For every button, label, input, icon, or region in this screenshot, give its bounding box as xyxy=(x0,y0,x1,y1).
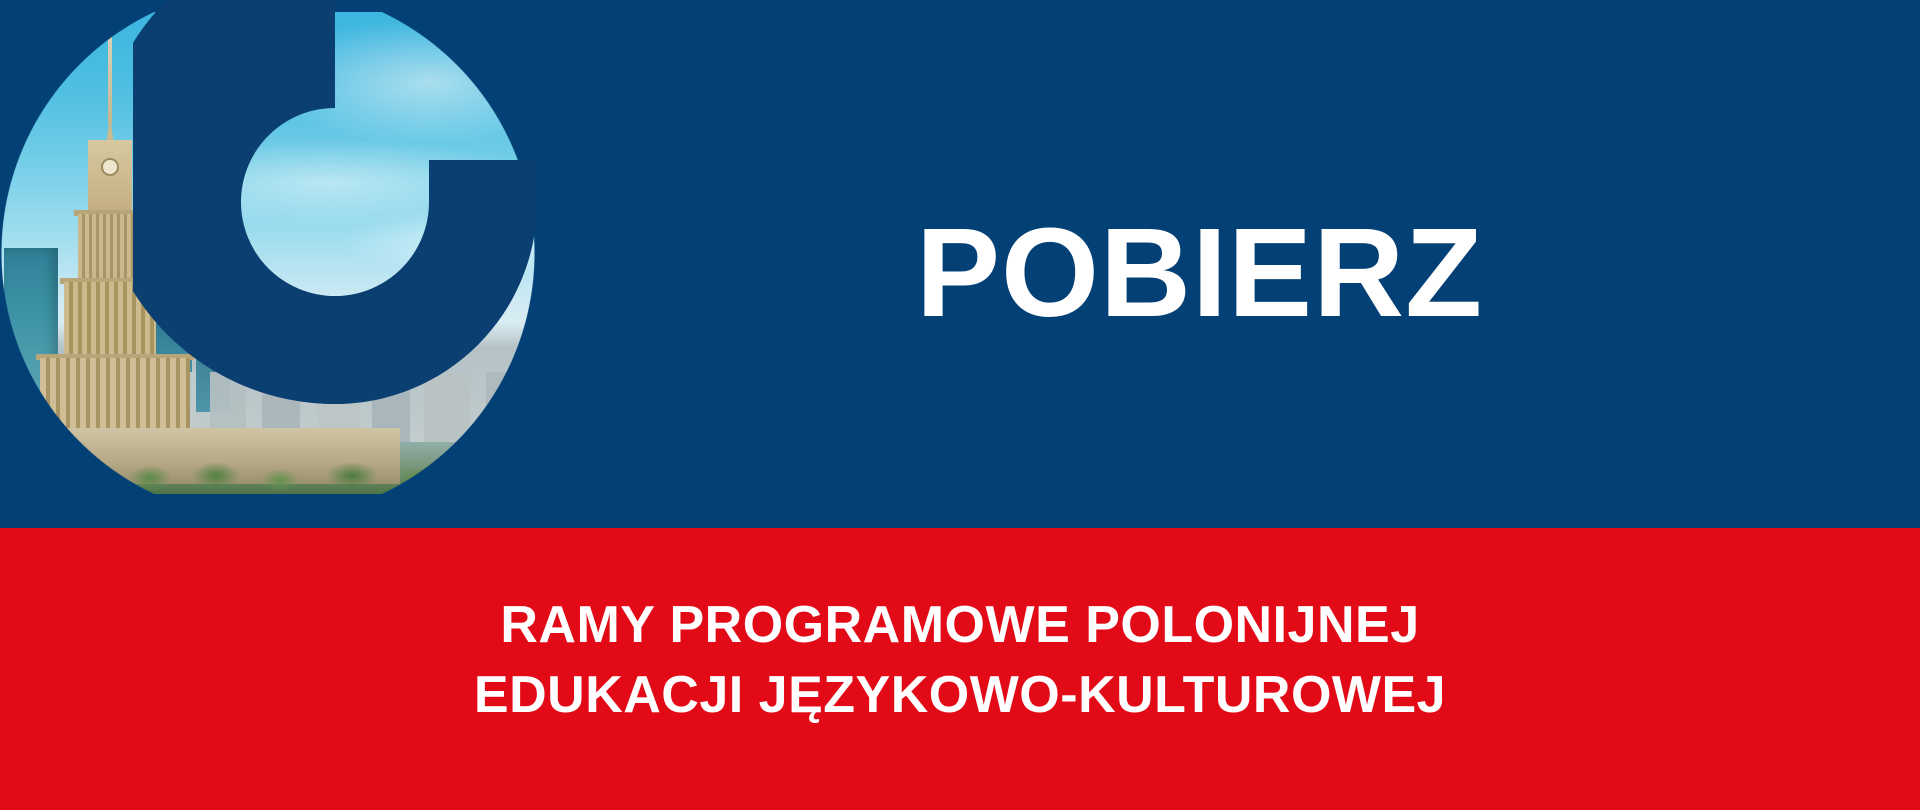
orpeg-g-logo xyxy=(133,0,537,404)
hero-blue-panel: POBIERZ xyxy=(0,0,1920,528)
red-caption-band: RAMY PROGRAMOWE POLONIJNEJ EDUKACJI JĘZY… xyxy=(0,528,1920,810)
download-banner: POBIERZ RAMY PROGRAMOWE POLONIJNEJ EDUKA… xyxy=(0,0,1920,810)
caption-line-2: EDUKACJI JĘZYKOWO-KULTUROWEJ xyxy=(474,665,1446,725)
caption-line-1: RAMY PROGRAMOWE POLONIJNEJ xyxy=(500,595,1419,655)
pobierz-heading[interactable]: POBIERZ xyxy=(916,198,1456,348)
caption-stack: RAMY PROGRAMOWE POLONIJNEJ EDUKACJI JĘZY… xyxy=(0,528,1920,810)
